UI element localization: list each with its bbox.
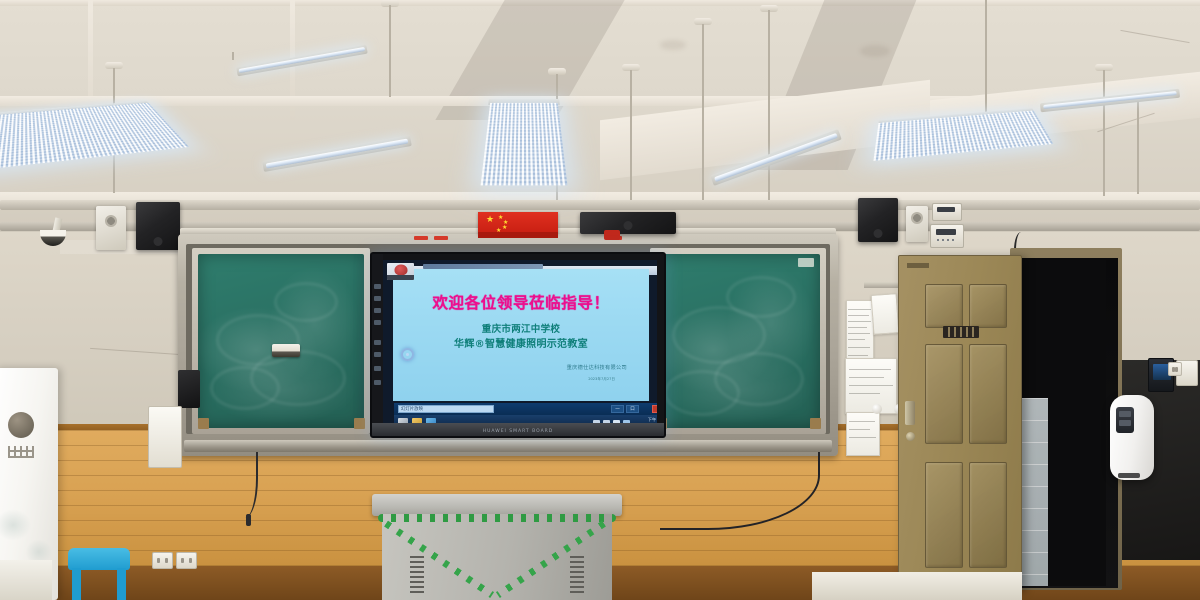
flag-fold xyxy=(478,232,558,238)
wall-control-cabinet-left[interactable] xyxy=(148,406,182,468)
wall-hook-1 xyxy=(872,404,882,414)
podium-top-surface[interactable] xyxy=(372,494,622,516)
interactive-flat-panel-display[interactable]: 欢迎各位领导莅临指导！ 重庆市两江中学校 华辉®智慧健康照明示范教室 重庆德仕达… xyxy=(370,252,666,438)
door-lock[interactable] xyxy=(906,432,915,441)
window-maximize-button[interactable]: 口 xyxy=(626,405,639,413)
student-desk-left xyxy=(0,560,52,600)
display-key-back[interactable] xyxy=(374,366,381,371)
white-speaker-left xyxy=(96,206,126,250)
window-address-field[interactable]: 幻灯片放映 xyxy=(398,405,494,413)
chalk-tray xyxy=(184,440,832,452)
chinese-national-flag: ★ ★ ★ ★ ★ xyxy=(478,212,558,234)
dome-camera xyxy=(40,228,66,242)
led-panel-light-2 xyxy=(481,103,568,186)
display-key-menu[interactable] xyxy=(374,296,381,301)
classroom-photo: ★ ★ ★ ★ ★ 欢迎各位领导莅临指导！ 重庆市两江中学校 华辉®智慧健康 xyxy=(0,0,1200,600)
control-box-upper[interactable] xyxy=(932,203,962,221)
slide-subtitle-school: 重庆市两江中学校 xyxy=(393,321,649,335)
window-address-text: 幻灯片放映 xyxy=(401,406,423,412)
wall-poster-2 xyxy=(871,293,900,335)
podium-vent-left xyxy=(410,556,424,596)
display-brand-label: HUAWEI SMART BOARD xyxy=(483,429,554,434)
display-key-settings[interactable] xyxy=(374,380,381,385)
door-handle[interactable] xyxy=(905,401,915,425)
teacher-podium-lectern[interactable] xyxy=(372,494,622,600)
slide-company-name: 重庆德仕达科技有限公司 xyxy=(567,364,627,371)
display-key-source[interactable] xyxy=(374,340,381,345)
display-key-home[interactable] xyxy=(374,352,381,357)
green-chalkboard-left xyxy=(198,254,364,428)
target-ring-icon xyxy=(401,348,414,361)
dispenser-screen[interactable] xyxy=(1116,407,1134,433)
display-key-power[interactable] xyxy=(374,284,381,289)
presentation-slide[interactable]: 欢迎各位领导莅临指导！ 重庆市两江中学校 华辉®智慧健康照明示范教室 重庆德仕达… xyxy=(393,269,649,401)
glass-block-wall xyxy=(1022,398,1048,586)
chalkboard-eraser[interactable] xyxy=(272,344,300,357)
white-speaker-right xyxy=(906,206,928,242)
school-crest-logo xyxy=(387,263,414,280)
display-chin-bar: HUAWEI SMART BOARD xyxy=(372,423,664,436)
display-key-volume-up[interactable] xyxy=(374,308,381,313)
tube-light-2 xyxy=(262,135,412,172)
power-outlet-left-1[interactable] xyxy=(152,552,173,569)
window-close-button[interactable]: × xyxy=(652,405,657,413)
wall-poster-3 xyxy=(845,358,897,414)
slide-subtitle-room: 华辉®智慧健康照明示范教室 xyxy=(393,335,649,350)
red-bracket xyxy=(604,230,620,240)
door-vent-grille xyxy=(943,326,979,338)
window-minimize-button[interactable]: 一 xyxy=(611,405,624,413)
classroom-door[interactable] xyxy=(898,255,1022,590)
display-key-volume-down[interactable] xyxy=(374,320,381,325)
wall-mounted-black-device xyxy=(178,370,200,408)
black-speaker-right xyxy=(858,198,898,242)
display-side-key-strip[interactable] xyxy=(372,254,383,436)
student-desk-right xyxy=(812,572,1022,600)
slide-date: 2023年7月27日 xyxy=(588,377,615,382)
podium-body xyxy=(382,514,612,600)
cable-connector xyxy=(246,514,251,526)
amplifier-box[interactable] xyxy=(930,224,964,248)
green-garland-top xyxy=(378,514,616,522)
power-outlet-right[interactable] xyxy=(1168,362,1182,376)
door-label-plate xyxy=(907,263,929,268)
black-speaker-left xyxy=(136,202,180,250)
projector-housing-center xyxy=(580,212,676,234)
window-title-bar[interactable]: 幻灯片放映 一 口 × xyxy=(394,403,657,415)
podium-vent-right xyxy=(570,556,584,596)
tube-light-1 xyxy=(236,45,368,77)
wall-dispenser[interactable] xyxy=(1110,395,1154,480)
led-panel-light-1 xyxy=(0,103,189,171)
led-panel-light-3 xyxy=(873,111,1053,161)
display-screen[interactable]: 欢迎各位领导莅临指导！ 重庆市两江中学校 华辉®智慧健康照明示范教室 重庆德仕达… xyxy=(383,260,657,425)
slide-title: 欢迎各位领导莅临指导！ xyxy=(393,291,649,313)
green-chalkboard-right xyxy=(656,254,820,428)
wall-poster-4 xyxy=(846,412,880,456)
blue-plastic-stool[interactable] xyxy=(68,548,130,600)
power-outlet-left-2[interactable] xyxy=(176,552,197,569)
